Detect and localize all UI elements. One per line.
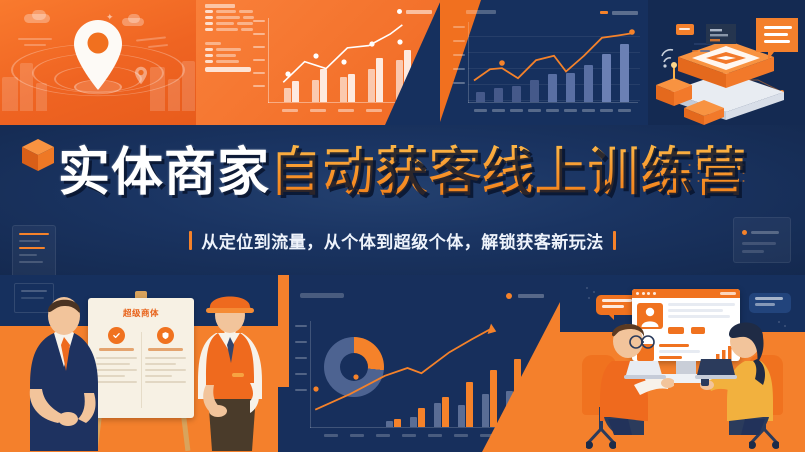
x-tick-label [546, 109, 559, 112]
y-tick-label [453, 40, 465, 42]
legend-item [205, 42, 261, 45]
x-tick-label [310, 109, 326, 112]
x-tick-label [366, 109, 382, 112]
x-tick-label [454, 434, 468, 437]
panel-accent-edge [278, 275, 289, 387]
legend-label-placeholder [205, 67, 251, 72]
legend-label-placeholder [205, 42, 221, 45]
window-dot [642, 292, 645, 295]
x-tick-label [618, 109, 631, 112]
legend-label-placeholder [216, 22, 234, 25]
sparkle-dot [593, 291, 595, 293]
legend-value-placeholder [237, 22, 253, 25]
speed-streak [148, 44, 168, 48]
legend-swatch [205, 28, 213, 31]
legend-item [205, 22, 261, 25]
x-tick-label [510, 109, 523, 112]
sparkle-dot [778, 321, 780, 323]
legend-swatch [205, 22, 213, 25]
bottom-illustration-strip: 超级商体 [0, 275, 805, 452]
speed-streak [18, 38, 52, 40]
board-column [145, 327, 186, 387]
x-tick-label [282, 109, 298, 112]
legend-item [205, 54, 261, 57]
monitor-titlebar [632, 289, 740, 298]
doc-line [19, 261, 43, 263]
orange-dashboard-panel [196, 0, 440, 125]
panel-diagonal-cut [482, 302, 560, 452]
title-segment-white: 实体商家 [58, 143, 270, 203]
doc-line [19, 254, 37, 256]
map-pin-icon [134, 66, 148, 85]
legend-swatch [205, 10, 213, 13]
cloud-icon [32, 10, 46, 20]
title-wrap: 实体商家自动获客线上训练营 [0, 147, 805, 199]
window-dot [653, 292, 656, 295]
chat-bubble-dark [749, 293, 791, 313]
panel-heading-placeholder [300, 293, 344, 298]
y-tick-label [253, 72, 265, 74]
y-tick-label [453, 82, 465, 84]
legend-swatch [205, 54, 213, 57]
y-tick-label [253, 85, 265, 87]
content-line [668, 309, 723, 312]
board-line [145, 369, 186, 371]
legend-swatch [205, 60, 213, 63]
x-tick-label [600, 109, 613, 112]
y-tick-label [253, 33, 265, 35]
trend-markers [468, 22, 638, 103]
subtitle-row: 从定位到流量，从个体到超级个体，解锁获客新玩法 [0, 228, 805, 253]
panel-heading-placeholder [466, 10, 496, 14]
x-tick-label [474, 109, 487, 112]
bubble-line [755, 303, 775, 306]
promo-banner: ✦ [0, 0, 805, 452]
legend-swatch [205, 48, 213, 51]
building-shape [2, 77, 18, 111]
bubble-line [602, 305, 624, 308]
y-tick-label [253, 46, 265, 48]
legend-label-placeholder [216, 16, 240, 19]
board-line [145, 363, 176, 365]
x-tick-label [564, 109, 577, 112]
y-tick-label [295, 373, 307, 375]
legend-marker [506, 293, 512, 299]
x-tick-label [428, 434, 442, 437]
navy-dashboard-panel [440, 0, 648, 125]
laptop-left [624, 359, 666, 381]
titlebar-label-placeholder [720, 292, 736, 295]
content-line [668, 303, 735, 306]
x-tick-label [350, 434, 364, 437]
legend-label-placeholder [216, 60, 239, 63]
easel-top-clip [135, 291, 147, 298]
title-band: 实体商家自动获客线上训练营 从定位到流量，从个体到超级个体，解锁获客新玩法 [0, 125, 805, 275]
cloud-icon [128, 14, 140, 23]
subtitle-bar-right [613, 231, 616, 250]
check-badge-icon [108, 327, 125, 344]
title-segment-orange: 自动获客线上训练营 [270, 143, 747, 203]
x-tick-label [492, 109, 505, 112]
legend-label-placeholder [216, 10, 236, 13]
trend-markers [310, 321, 498, 428]
sparkle-dot [784, 325, 786, 327]
isometric-platform-panel [648, 0, 805, 125]
legend-value-placeholder [241, 28, 253, 31]
y-tick-label [295, 325, 307, 327]
subtitle-text: 从定位到流量，从个体到超级个体，解锁获客新玩法 [201, 228, 604, 253]
bubble-line [602, 299, 632, 302]
x-tick-label [582, 109, 595, 112]
sparkle-dot [588, 297, 590, 299]
legend-value-placeholder [239, 10, 253, 13]
map-pin-icon [70, 18, 126, 92]
legend-label-placeholder [216, 28, 238, 31]
chart-plot-area [468, 22, 638, 103]
laptop-right [693, 357, 737, 381]
page-title: 实体商家自动获客线上训练营 [58, 147, 747, 199]
isometric-illustration [648, 0, 805, 125]
legend-item [205, 10, 261, 13]
speed-streak [24, 44, 46, 46]
y-tick-label [453, 26, 465, 28]
y-tick-label [295, 389, 307, 391]
subtitle-bar-left [189, 231, 192, 250]
board-line [145, 375, 172, 377]
office-meeting-panel [560, 275, 805, 452]
top-illustration-strip: ✦ [0, 0, 805, 125]
legend-item [205, 28, 261, 31]
y-tick-label [253, 20, 265, 22]
window-dot [647, 292, 650, 295]
legend-label-placeholder [216, 48, 241, 51]
legend-label-placeholder [216, 54, 236, 57]
y-tick-label [253, 59, 265, 61]
legend-marker [600, 11, 608, 14]
window-dot [636, 292, 639, 295]
location-pin-panel: ✦ [0, 0, 196, 125]
legend-label-placeholder [612, 11, 638, 15]
chart-plot-area [310, 321, 498, 428]
y-tick-label [453, 68, 465, 70]
panel-heading-placeholder [205, 4, 235, 8]
x-tick-label [324, 434, 338, 437]
legend-label-placeholder [518, 294, 544, 298]
sparkle-dot [586, 287, 588, 289]
panel-diagonal-cut [385, 0, 440, 125]
y-tick-label [295, 341, 307, 343]
x-tick-label [402, 434, 416, 437]
board-divider [141, 332, 142, 408]
bubble-line [755, 297, 783, 300]
legend-item [205, 48, 261, 51]
x-tick-label [376, 434, 390, 437]
shield-badge-icon [157, 327, 174, 344]
worker-figure [190, 289, 274, 452]
board-line [145, 357, 186, 359]
board-subheading-placeholder [148, 348, 183, 351]
y-tick-label [295, 357, 307, 359]
legend-swatch [205, 16, 213, 19]
analytics-panel [278, 275, 560, 452]
legend-item [205, 16, 261, 19]
speed-streak [136, 36, 166, 41]
board-line [145, 381, 186, 383]
legend-value-placeholder [243, 16, 254, 19]
x-tick-label [528, 109, 541, 112]
presenters-panel: 超级商体 [0, 275, 278, 452]
businessman-figure [24, 293, 110, 452]
x-tick-label [338, 109, 354, 112]
y-tick-label [453, 54, 465, 56]
